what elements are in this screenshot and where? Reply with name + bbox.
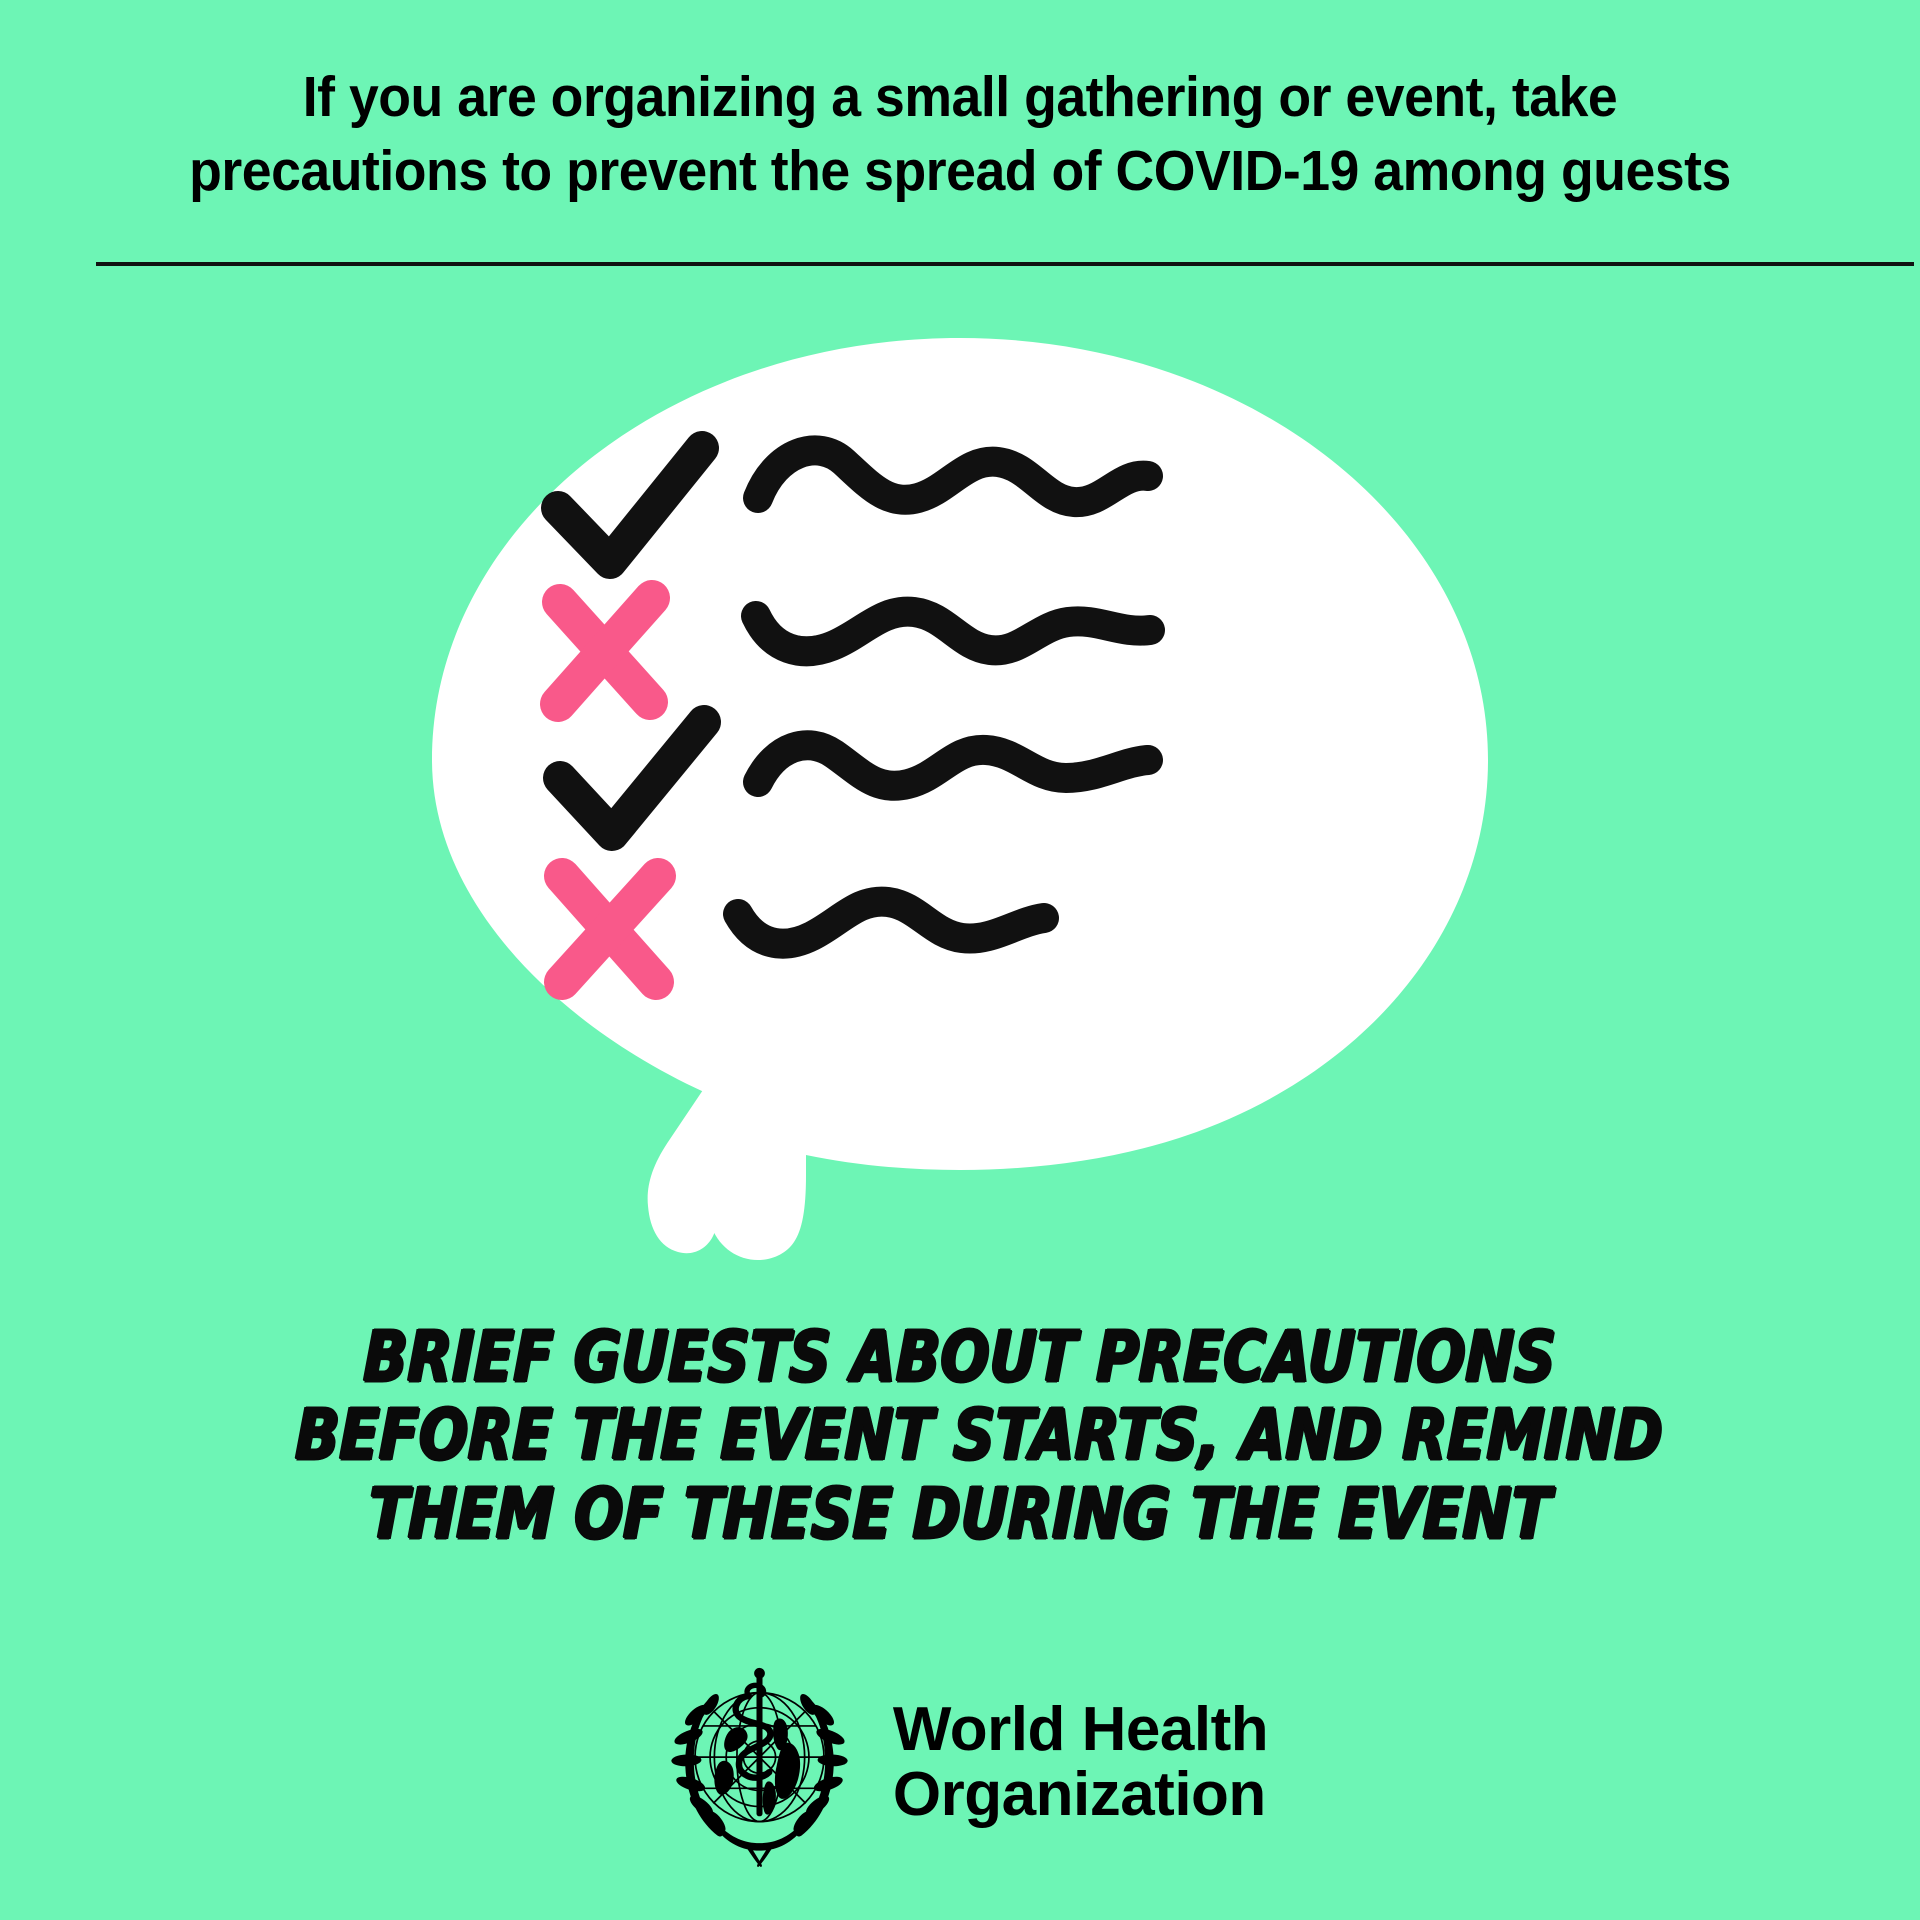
who-wordmark-line-2: Organization: [893, 1763, 1268, 1827]
caption-line-1: BRIEF GUESTS ABOUT PRECAUTIONS: [295, 1318, 1626, 1396]
poster-canvas: If you are organizing a small gathering …: [0, 0, 1920, 1920]
who-wordmark: World Health Organization: [893, 1698, 1268, 1827]
who-logo: World Health Organization: [0, 1655, 1920, 1870]
who-emblem-icon: [652, 1655, 867, 1870]
header-line-2: precautions to prevent the spread of COV…: [142, 134, 1778, 208]
who-wordmark-line-1: World Health: [893, 1698, 1268, 1762]
caption-text-block: BRIEF GUESTS ABOUT PRECAUTIONS BEFORE TH…: [150, 1318, 1770, 1553]
header-line-1: If you are organizing a small gathering …: [142, 60, 1778, 134]
bubble-svg: [420, 330, 1500, 1270]
caption-line-3: THEM OF THESE DURING THE EVENT: [295, 1475, 1626, 1553]
speech-bubble-illustration: [420, 330, 1500, 1270]
caption-line-2: BEFORE THE EVENT STARTS, AND REMIND: [295, 1396, 1626, 1474]
header-divider-rule: [96, 262, 1914, 266]
header-text-block: If you are organizing a small gathering …: [90, 60, 1830, 208]
